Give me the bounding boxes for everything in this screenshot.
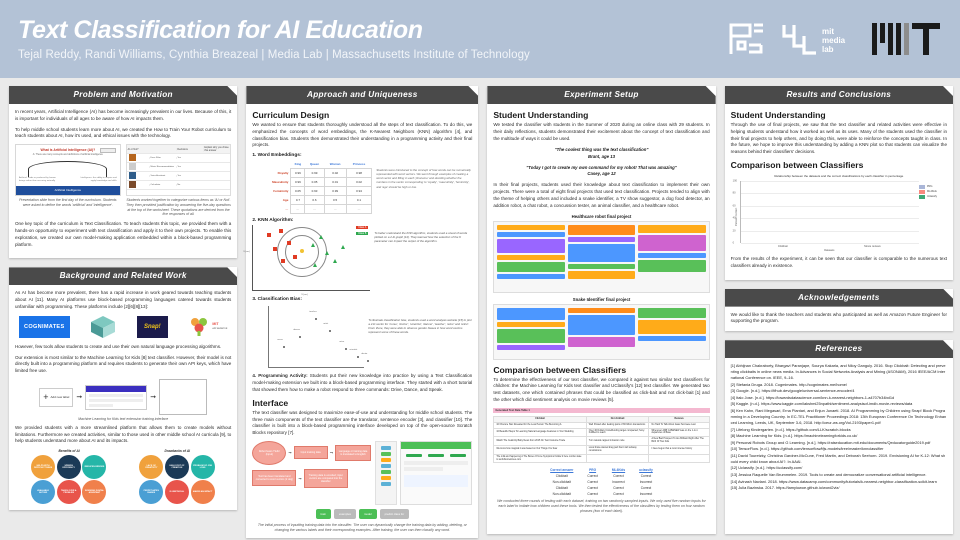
knn-note: To better understand the KNN algorithm, … [374, 225, 472, 243]
add-label-text: Add new label [50, 395, 69, 399]
palette-block[interactable] [381, 470, 391, 474]
project-block [568, 225, 635, 235]
palette-block[interactable] [381, 476, 391, 480]
cognimates-logo: COGNIMATES [19, 316, 70, 338]
panel-background-and-related-work: Background and Related Work As AI has be… [9, 267, 237, 510]
legend-item: ML4Kids [919, 190, 945, 194]
wheel-item: PERPETUATES BIASES [139, 480, 163, 504]
snap-logo: Snap! [137, 316, 168, 338]
panel-problem-and-motivation: Problem and Motivation In recent years, … [9, 86, 237, 258]
row-decision: Yes [176, 157, 203, 159]
table-row: 10 Beautiful Steps To Learning Natural L… [494, 428, 709, 437]
bias-scatter-plot: nurse dancer teacher artist actor s [268, 306, 364, 368]
approach-paragraph-1: We wanted to ensure that students thorou… [252, 122, 472, 149]
point-label: teacher [309, 311, 316, 313]
column-4: Results and Conclusions Student Understa… [725, 86, 953, 534]
generated-test-data-table: Generated Test Data Table 1 Clickbait No… [493, 408, 709, 464]
wheel-item: IS UNETHICAL [165, 480, 189, 504]
background-paragraph-4: We provided students with a more streaml… [15, 425, 231, 445]
classifier-results-table: Correct answer PRG ML4Kids uclassify Cli… [543, 467, 660, 497]
cell: 0.99 [305, 169, 324, 178]
figure-caption: We conducted three rounds of testing wit… [493, 499, 709, 513]
col-header: Queen [305, 160, 324, 169]
slide-arc-shape [28, 161, 107, 177]
point-label: dancer [293, 329, 300, 331]
project-block [638, 336, 705, 341]
poster-header: Text Classification for AI Education Tej… [0, 0, 960, 78]
panel-experiment-setup: Experiment Setup Student Understanding W… [487, 86, 715, 534]
cell: A New Bad Prospect To Are Brilliant Righ… [649, 437, 709, 446]
project-block [568, 244, 635, 262]
project-blocks-col [638, 308, 705, 356]
wheel-item: SPEEDS EFFICIENCY [57, 455, 81, 479]
corner-cell [252, 160, 291, 169]
cell: 0.99 [291, 178, 305, 187]
data-point [313, 263, 317, 267]
row-item: Calculator [149, 184, 176, 186]
reference-item: [1] Abhijnan Chakraborty, Bhargavi Paran… [731, 363, 947, 381]
benefits-drawbacks-figure: Benefits of AI HELPS WITH DIFFICULT TASK… [15, 449, 231, 504]
slide-left-text: Artificial: made or produced by human be… [19, 177, 60, 182]
panel-heading: Results and Conclusions [725, 86, 953, 104]
column-2: Approach and Uniqueness Curriculum Desig… [246, 86, 478, 534]
cell: 0.5 [324, 196, 346, 205]
project-block [568, 237, 635, 242]
reference-item: [8] Machine Learning for Kids. [n.d.]. h… [731, 433, 947, 439]
panel-approach-and-uniqueness: Approach and Uniqueness Curriculum Desig… [246, 86, 478, 538]
problem-figures: What is Artificial Intelligence (AI)? A:… [15, 144, 231, 217]
panel-body: As AI has become more prevalent, there h… [9, 285, 237, 510]
project-block [497, 308, 564, 320]
legend-class-a: Class A [356, 226, 368, 229]
word-embedding-table: King Queen Woman Princess Royalty 0.99 0… [252, 160, 372, 214]
data-point [319, 235, 323, 239]
project-block [638, 253, 705, 258]
poster-columns: Problem and Motivation In recent years, … [0, 78, 960, 540]
arrow-icon: ➞ [330, 450, 333, 455]
pipeline-diagram: Robot hears 'Hello' (input) ➞ Input trai… [252, 441, 372, 505]
reference-item: [3] Google. [n.d.]. https://tfhub.dev/go… [731, 388, 947, 394]
project-block [638, 320, 705, 334]
cell: 0.1 [346, 196, 372, 205]
table-row: … …… …… [252, 205, 372, 214]
reference-item: [7] Lifelong Kindergarten. [n.d.]. https… [731, 427, 947, 433]
project-block [638, 235, 705, 251]
y-tick: 60 [733, 204, 736, 207]
wheel-item: HELPS WITH DIFFICULT TASKS [31, 455, 55, 479]
col-header: King [291, 160, 305, 169]
cell: Incorrect [632, 491, 660, 497]
project-blocks-col [497, 308, 564, 356]
column-1: Problem and Motivation In recent years, … [9, 86, 237, 534]
cell: … [305, 205, 324, 214]
project-blocks-col [638, 225, 705, 289]
cell: 0.99 [324, 187, 346, 196]
results-paragraph-1: Through the use of final projects, we sa… [731, 122, 947, 156]
modal-button[interactable] [406, 454, 422, 458]
problem-paragraph-2: To help middle school students learn mor… [15, 127, 231, 141]
project-blocks-col [497, 225, 564, 289]
arrow-icon: ➞ [76, 393, 82, 401]
arrow-icon: ➞ [298, 476, 301, 481]
project-block [568, 315, 635, 335]
problem-paragraph-1: In recent years, Artificial Intelligence… [15, 109, 231, 123]
header-cell-2: Decisions [176, 148, 203, 151]
experiment-paragraph-1: We tested the classifier with students i… [493, 122, 709, 142]
modal-input[interactable] [404, 461, 468, 465]
model-training-modal[interactable] [400, 441, 472, 505]
table-row: Royalty 0.99 0.99 0.02 0.98 [252, 169, 372, 178]
panel-heading: Approach and Uniqueness [246, 86, 478, 104]
bias-plot-wrap: nurse dancer teacher artist actor s [252, 304, 364, 368]
table-row: The milk and happening A The Bones Of Li… [494, 454, 709, 463]
cell: 0.05 [305, 178, 324, 187]
curriculum-slide-image: What is Artificial Intelligence (AI)? A:… [15, 144, 121, 196]
wheel-item: WORKING DIGITAL ASSISTANT [82, 480, 106, 504]
cell: … [291, 205, 305, 214]
wheel-item: MAKES AN IMPACT [191, 480, 215, 504]
point-label: scientist [349, 349, 357, 351]
panel-acknowledgements: Acknowledgements We would like to thank … [725, 289, 953, 332]
table-row: Calculator No [127, 181, 231, 190]
row-decision: No [176, 184, 203, 186]
wheel-item: AVAILABLE 24/7/365 [31, 480, 55, 504]
wheel-item: PROBLEM OF JOB LOSS [191, 455, 215, 479]
cell: Over 40 Dollars Crowdfunding target comp… [586, 428, 649, 437]
personal-robots-group-logo [728, 22, 766, 56]
wheel-item: TAKES OVER A PROBLEM [57, 480, 81, 504]
modal-button[interactable] [428, 454, 444, 458]
reference-item: [5] Kaggle. [n.d.]. https://www.kaggle.c… [731, 401, 947, 407]
palette-block[interactable] [381, 482, 391, 486]
cell [586, 454, 649, 463]
step-4-paragraph: 4. Programming Activity: Students put th… [252, 373, 472, 393]
panel-body: Student Understanding Through the use of… [725, 104, 953, 280]
drawbacks-wheel: Drawbacks of AI LACK OF CREATIVITY HIGH … [139, 449, 215, 504]
student-quote-1: "The coolest thing was the text classifi… [493, 147, 709, 159]
wheel-grid: HELPS WITH DIFFICULT TASKS SPEEDS EFFICI… [31, 455, 107, 504]
cell: 0.02 [346, 178, 372, 187]
data-point [329, 330, 331, 332]
y-tick: 80 [733, 192, 736, 195]
mit-logo [872, 21, 940, 57]
panel-heading: References [725, 340, 953, 358]
flow-block-predict[interactable]: predict class for [380, 509, 410, 519]
x-tick: Clickbait [778, 245, 788, 248]
cell: 0.01 [324, 178, 346, 187]
knn-scatter-plot: Class A Class B X (no.) X (no.) [252, 225, 370, 291]
ai-or-not-worksheet-image: AI or Not? Decisions Explain why you cho… [126, 144, 232, 196]
row-label: Royalty [252, 169, 291, 178]
panel-heading: Experiment Setup [487, 86, 715, 104]
cell: 0.02 [324, 169, 346, 178]
cell: 0.99 [291, 169, 305, 178]
mit-media-lab-logo: mit media lab [780, 22, 858, 56]
dataset-table-title: Generated Test Data Table 1 [493, 408, 709, 413]
plus-icon: + [43, 393, 48, 402]
figure-slide: What is Artificial Intelligence (AI)? A:… [15, 144, 121, 207]
point-label: artist [323, 323, 328, 325]
table-row: Age 0.7 0.6 0.5 0.1 [252, 196, 372, 205]
interface-paragraph-1: The text classifier was designed to maxi… [252, 410, 472, 437]
data-point [341, 245, 345, 249]
step-2-label: 2. KNN Algorithm: [252, 218, 472, 223]
project-block [497, 239, 564, 253]
logo-group: mit media lab [728, 21, 946, 57]
cell: 0.05 [291, 187, 305, 196]
pipeline-node-5: Training data is encoded; input vectors … [304, 469, 348, 488]
data-point [333, 259, 337, 263]
point-label: nurse [277, 339, 282, 341]
poster-root: Text Classification for AI Education Tej… [0, 0, 960, 540]
palette-block[interactable] [381, 458, 391, 462]
wheel-item: REDUCES ERRORS [82, 455, 106, 479]
project-block [497, 225, 564, 230]
modal-input[interactable] [404, 467, 442, 471]
acknowledgements-text: We would like to thank the teachers and … [731, 312, 947, 326]
results-paragraph-2: From the results of the experiment, it c… [731, 256, 947, 270]
cell: Whenever ADB CAB&NEW was on the 1-in-1 d… [649, 428, 709, 437]
project-block [568, 308, 635, 313]
cell: 0.93 [305, 187, 324, 196]
data-point [279, 229, 283, 233]
chart-legend: PRG ML4Kids Uclassify [919, 181, 945, 252]
figure-caption: Machine Learning for Kids text extension… [15, 417, 231, 422]
form-line [89, 404, 113, 407]
quote-attribution: Brant, age 13 [493, 154, 709, 160]
panel-body: Curriculum Design We wanted to ensure th… [246, 104, 478, 538]
legend-item: Uclassify [919, 195, 945, 199]
knn-figure: Class A Class B X (no.) X (no.) To bette… [252, 225, 472, 291]
figure-caption: Students worked together to categorize v… [126, 198, 232, 217]
word-embeddings-note: Students were introduced to the concept … [376, 160, 472, 188]
reference-item: [9] Personal Robots Group and G Learning… [731, 440, 947, 446]
data-point [283, 346, 285, 348]
chart-plot-region: 100 80 60 40 20 0 [740, 181, 919, 252]
modal-button[interactable] [450, 454, 466, 458]
legend-class-b: Class B [356, 232, 368, 235]
section-title-comparison: Comparison between Classifiers [493, 365, 709, 375]
cell: 0.98 [346, 169, 372, 178]
cell: Correct [580, 491, 604, 497]
form-header-bar [86, 386, 146, 392]
student-quote-2: "Today I got to create my own command fo… [493, 165, 709, 177]
reference-item: [11] David Touretzky, Christina Gardner-… [731, 453, 947, 465]
cell: 0.94 [346, 187, 372, 196]
add-label-box: + Add new label [39, 388, 73, 407]
point-label: actor [339, 341, 344, 343]
table-header-row: King Queen Woman Princess [252, 160, 372, 169]
modal-result-area [404, 475, 468, 487]
palette-block[interactable] [381, 464, 391, 468]
chart-title: Relationship between the datasets and th… [733, 175, 945, 179]
project-block [497, 232, 564, 237]
wheel-title: Drawbacks of AI [139, 449, 215, 453]
panel-heading: Acknowledgements [725, 289, 953, 307]
row-label: Masculinity [252, 178, 291, 187]
row-avatar [127, 176, 150, 194]
section-title-student-understanding: Student Understanding [731, 110, 947, 120]
form-line [89, 399, 143, 402]
y-tick: 100 [733, 179, 737, 182]
panel-body: We would like to thank the teachers and … [725, 307, 953, 332]
data-point [293, 255, 297, 259]
chart-bars [741, 181, 919, 243]
result-panel [159, 379, 207, 415]
legend-swatch [919, 195, 925, 199]
ml4k-logo [90, 316, 116, 338]
experiment-paragraph-3: To determine the effectiveness of our te… [493, 377, 709, 404]
section-title-student-understanding: Student Understanding [493, 110, 709, 120]
x-tick: Movie reviews [864, 245, 880, 248]
panel-heading: Problem and Motivation [9, 86, 237, 104]
table-row: We know how magical it was based on Out … [494, 445, 709, 454]
col-header: Woman [324, 160, 346, 169]
header-cell-3: Explain why you chose this answer [203, 146, 230, 152]
data-point [273, 247, 277, 251]
platform-logo-row: COGNIMATES Snap! [15, 316, 231, 338]
section-title-interface: Interface [252, 398, 472, 408]
project-blocks-col [568, 225, 635, 289]
project-block [568, 337, 635, 347]
chart-plot: 100 80 60 40 20 0 [740, 181, 919, 243]
section-title-comparison: Comparison between Classifiers [731, 160, 947, 170]
svg-text:lab: lab [822, 45, 834, 54]
references-list: [1] Abhijnan Chakraborty, Bhargavi Paran… [725, 358, 953, 497]
legend-label: Uclassify [927, 195, 937, 198]
project-block [497, 345, 564, 350]
legend-swatch [919, 185, 925, 189]
table-row: Masculinity 0.99 0.05 0.01 0.02 [252, 178, 372, 187]
row-item: Voice Assistant [149, 175, 176, 177]
mit-app-inventor-logo: MITAPP INVENTOR [188, 316, 227, 338]
flow-block-train[interactable]: train [316, 509, 331, 519]
table-row: Non-clickbait Correct Correct Incorrect [543, 491, 660, 497]
legend-item: PRG [919, 185, 945, 189]
cell [649, 454, 709, 463]
experiment-paragraph-2: In their final projects, students used t… [493, 182, 709, 209]
project-block [638, 308, 705, 318]
cell: We know how magical it was based on Out … [494, 445, 586, 454]
data-point [281, 259, 285, 263]
problem-paragraph-3: One key topic of the curriculum is Text … [15, 221, 231, 248]
data-point [287, 241, 291, 245]
cell: Non-clickbait [543, 491, 580, 497]
data-point [357, 356, 359, 358]
section-title-curriculum-design: Curriculum Design [252, 110, 472, 120]
page-title: Text Classification for AI Education [18, 17, 728, 43]
figure-caption: The initial process of inputting trainin… [252, 523, 472, 532]
point-label: doctor [361, 353, 367, 355]
panel-heading: Background and Related Work [9, 267, 237, 285]
row-item: Music Recommendation [149, 166, 176, 168]
legend-label: ML4Kids [927, 190, 937, 193]
arrow-icon: ➞ [288, 450, 291, 455]
row-item: Face Filter [149, 157, 176, 159]
step-1-label: 1. Word Embeddings: [252, 153, 472, 158]
reference-item: [14] Avinash Navlani. 2018. https://www.… [731, 479, 947, 485]
x-axis-label: X (no.) [301, 294, 308, 296]
column-3: Experiment Setup Student Understanding W… [487, 86, 715, 534]
figure-caption: Presentation slide from the first day of… [15, 198, 121, 207]
reference-item: [15] Julia Bazinska. 2017. https://lamyi… [731, 485, 947, 491]
blocks-palette[interactable] [375, 441, 397, 505]
table-row: Watch The Celebrity Baby News from 2015 … [494, 437, 709, 446]
pipeline-node-4: Text has been translated and converted t… [252, 470, 296, 486]
arrow-icon: ➞ [150, 393, 156, 401]
project-block [497, 329, 564, 343]
ml4k-training-interface-figure: + Add new label ➞ ➞ [15, 379, 231, 415]
y-tick: 0 [733, 241, 734, 244]
panel-body: In recent years, Artificial Intelligence… [9, 104, 237, 258]
cell: Watch The Celebrity Baby News from 2015 … [494, 437, 586, 446]
panel-body: Student Understanding We tested the clas… [487, 104, 715, 520]
data-point [311, 243, 315, 247]
cell: Local broke started drag part that it wi… [586, 445, 649, 454]
flow-block-model[interactable]: model [359, 509, 377, 519]
svg-text:media: media [822, 36, 846, 45]
chart-area: Percent Correct 100 80 60 40 20 0 [733, 181, 945, 252]
row-decision: Yes [176, 166, 203, 168]
reference-item: [13] Jessica Raquelle Van Brummelen. 201… [731, 472, 947, 478]
wheel-title: Benefits of AI [31, 449, 107, 453]
data-point [325, 251, 329, 255]
authors-line: Tejal Reddy, Randi Williams, Cynthia Bre… [18, 49, 728, 61]
healthcare-robot-project-screenshot [493, 221, 709, 293]
row-label: Age [252, 196, 291, 205]
data-point [315, 318, 317, 320]
modal-header-bar [401, 442, 471, 449]
cell: … [346, 205, 372, 214]
dataset-table: Clickbait Not clickbait Reviews 10 Obscu… [493, 416, 709, 464]
cell: I have begun that a most intense history [649, 445, 709, 454]
step-3-label: 3. Classification Bias: [252, 297, 472, 302]
wheel-item: LACK OF CREATIVITY [139, 455, 163, 479]
reference-item: [10] TensorFlow. [n.d.]. https://github.… [731, 446, 947, 452]
benefits-wheel: Benefits of AI HELPS WITH DIFFICULT TASK… [31, 449, 107, 504]
step-4-label: 4. Programming Activity: [252, 373, 307, 378]
cell: The milk and happening A The Bones Of Li… [494, 454, 586, 463]
background-paragraph-3: Our extension is most similar to the Mac… [15, 355, 231, 375]
bias-note: To illustrate classification bias, stude… [368, 304, 472, 368]
table-row: Femininity 0.05 0.93 0.99 0.94 [252, 187, 372, 196]
header-text-block: Text Classification for AI Education Tej… [18, 17, 728, 61]
legend-label: PRG [927, 185, 932, 188]
data-point [345, 348, 347, 350]
project-block [497, 262, 564, 272]
svg-text:mit: mit [822, 27, 834, 36]
y-tick: 20 [733, 229, 736, 232]
background-paragraph-1: As AI has become more prevalent, there h… [15, 290, 231, 310]
row-decision: Yes [176, 175, 203, 177]
cell: Turn natural capped in Euston note [586, 437, 649, 446]
figure-title-snake: Snake Identifier final project [493, 297, 709, 302]
pipeline-node-1: Robot hears 'Hello' (input) [252, 441, 286, 465]
panel-results-and-conclusions: Results and Conclusions Student Understa… [725, 86, 953, 280]
legend-swatch [919, 190, 925, 194]
palette-block[interactable] [381, 446, 391, 450]
flow-block-examples[interactable]: examples [334, 509, 356, 519]
row-label: Femininity [252, 187, 291, 196]
palette-block[interactable] [381, 452, 391, 456]
project-block [638, 225, 705, 233]
block-flow-figure: train examples model predict class for [252, 509, 472, 519]
project-block [497, 322, 564, 327]
figure-title-healthcare: Healthcare robot final project [493, 214, 709, 219]
row-label: … [252, 205, 291, 214]
slide-right-text: Intelligence: the ability to acquire and… [75, 177, 116, 182]
slide-bottom-label: Artificial Intelligence [16, 186, 120, 192]
